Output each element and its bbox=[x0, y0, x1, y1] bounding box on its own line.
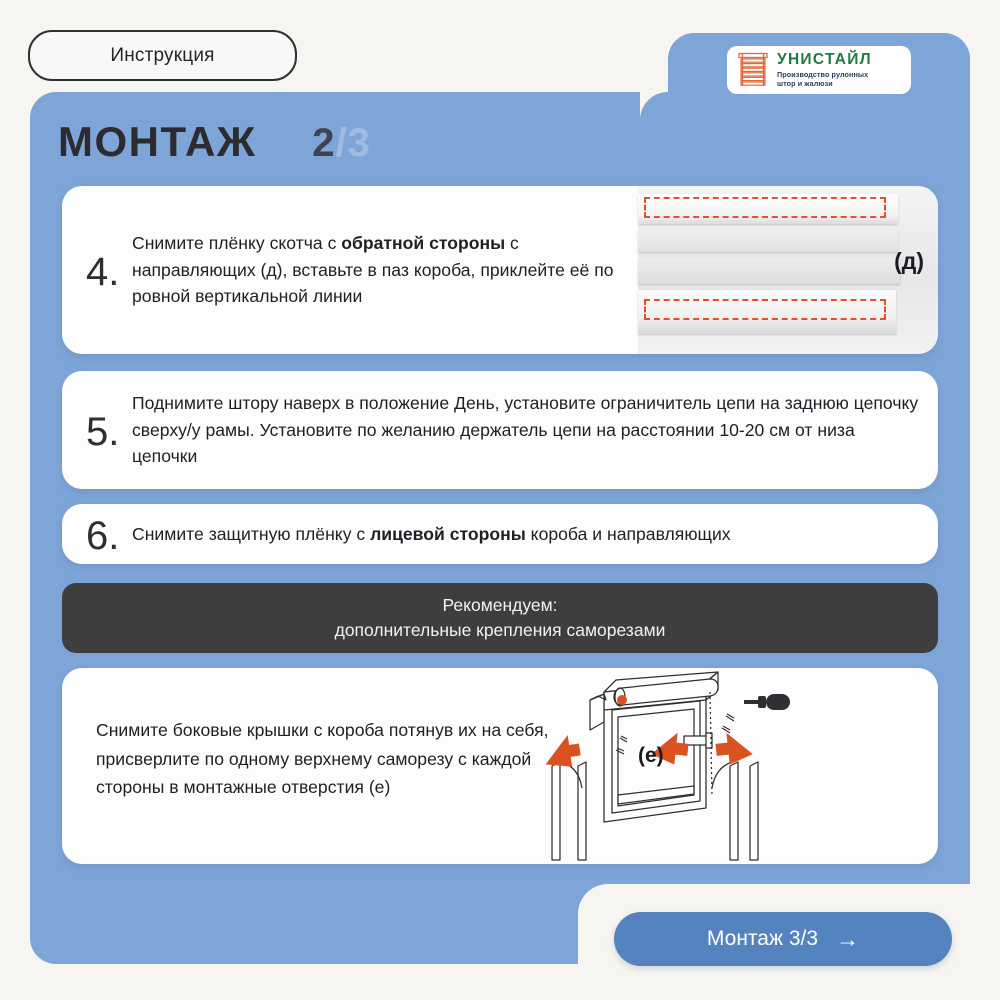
step-text: Поднимите штору наверх в положение День,… bbox=[132, 390, 938, 470]
page-counter-total: /3 bbox=[336, 121, 371, 165]
step-text-emphasis: лицевой стороны bbox=[370, 524, 526, 544]
instruction-tab[interactable]: Инструкция bbox=[28, 30, 297, 81]
step-text-part: Снимите защитную плёнку с bbox=[132, 524, 370, 544]
roller-blind-icon bbox=[736, 52, 770, 88]
step-text-emphasis: обратной стороны bbox=[341, 233, 505, 253]
diagram-label-e: (e) bbox=[638, 744, 664, 767]
screwdriver-icon bbox=[744, 694, 790, 710]
tape-highlight-bottom bbox=[644, 299, 886, 320]
panel-notch-curve bbox=[640, 92, 696, 148]
step-number: 4. bbox=[86, 248, 132, 292]
brand-tagline-line1: Производство рулонных bbox=[777, 70, 868, 79]
step-number: 6. bbox=[86, 512, 132, 556]
recommendation-text: дополнительные крепления саморезами bbox=[335, 620, 666, 641]
brand-name: УНИСТАЙЛ bbox=[777, 52, 872, 68]
brand-tagline-line2: штор и жалюзи bbox=[777, 79, 833, 88]
final-instruction-card: Снимите боковые крышки с короба потянув … bbox=[62, 668, 938, 864]
page-counter: 2/3 bbox=[312, 121, 371, 166]
instruction-tab-label: Инструкция bbox=[110, 45, 214, 67]
recommendation-note: Рекомендуем: дополнительные крепления са… bbox=[62, 583, 938, 653]
rail-segment bbox=[638, 258, 900, 284]
step-card-4: 4. Снимите плёнку скотча с обратной стор… bbox=[62, 186, 938, 354]
photo-label-d: (д) bbox=[894, 248, 924, 275]
guide-rail-photo: (д) bbox=[638, 186, 938, 354]
page-counter-current: 2 bbox=[312, 121, 335, 165]
step-text: Снимите плёнку скотча с обратной стороны… bbox=[132, 230, 638, 310]
page-title: МОНТАЖ 2/3 bbox=[58, 118, 371, 166]
page-title-text: МОНТАЖ bbox=[58, 118, 256, 166]
next-page-label: Монтаж 3/3 bbox=[707, 927, 818, 951]
next-page-button[interactable]: Монтаж 3/3 → bbox=[614, 912, 952, 966]
rail-segment bbox=[638, 230, 898, 252]
step-number: 5. bbox=[86, 408, 132, 452]
step-card-5: 5. Поднимите штору наверх в положение Де… bbox=[62, 371, 938, 489]
recommendation-title: Рекомендуем: bbox=[442, 595, 557, 616]
brand-logo: УНИСТАЙЛ Производство рулонных штор и жа… bbox=[727, 46, 911, 94]
step-card-6: 6. Снимите защитную плёнку с лицевой сто… bbox=[62, 504, 938, 564]
tape-highlight-top bbox=[644, 197, 886, 218]
roller-blind-assembly-diagram: (e) bbox=[534, 670, 934, 862]
step-text: Снимите защитную плёнку с лицевой сторон… bbox=[132, 521, 938, 548]
arrow-right-icon: → bbox=[836, 928, 859, 951]
step-text-part: Снимите плёнку скотча с bbox=[132, 233, 341, 253]
step-text-part: короба и направляющих bbox=[526, 524, 731, 544]
final-instruction-text: Снимите боковые крышки с короба потянув … bbox=[96, 716, 566, 802]
